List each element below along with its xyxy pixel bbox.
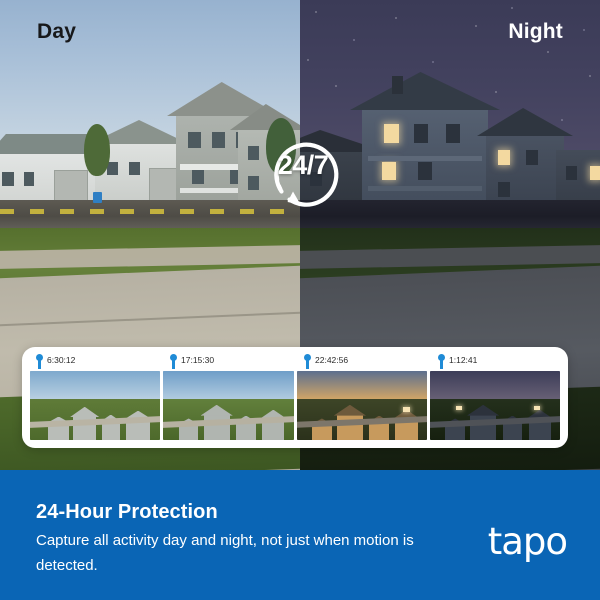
- day-tree-right: [266, 118, 296, 174]
- timeline-tick[interactable]: 1:12:41: [438, 354, 477, 369]
- timeline-thumbnail[interactable]: [30, 371, 160, 440]
- day-tree-left: [84, 124, 110, 176]
- promo-subtitle: Capture all activity day and night, not …: [36, 528, 436, 578]
- map-pin-icon: [36, 354, 43, 369]
- tapo-logo: tapo: [488, 523, 567, 560]
- night-label: Night: [508, 20, 563, 44]
- timeline-timestamp: 6:30:12: [47, 354, 75, 366]
- map-pin-icon: [438, 354, 445, 369]
- timeline-thumbnail[interactable]: [163, 371, 293, 440]
- promo-title: 24-Hour Protection: [36, 501, 218, 524]
- map-pin-icon: [304, 354, 311, 369]
- day-label: Day: [37, 20, 76, 44]
- timeline-thumbnail-row: [30, 371, 560, 440]
- timeline-tick[interactable]: 22:42:56: [304, 354, 348, 369]
- timeline-card[interactable]: 6:30:12 17:15:30 22:42:56 1:12:41: [22, 347, 568, 448]
- timeline-tick[interactable]: 17:15:30: [170, 354, 214, 369]
- timeline-timestamp: 1:12:41: [449, 354, 477, 366]
- promo-band: 24-Hour Protection Capture all activity …: [0, 470, 600, 600]
- map-pin-icon: [170, 354, 177, 369]
- timeline-thumbnail[interactable]: [430, 371, 560, 440]
- timeline-timestamp: 17:15:30: [181, 354, 214, 366]
- timeline-thumbnail[interactable]: [297, 371, 427, 440]
- timeline-tick[interactable]: 6:30:12: [36, 354, 75, 369]
- tapo-24-hour-protection-poster: Day Night 24/7 6:30:12 17:15:30: [0, 0, 600, 600]
- timeline-tick-row: 6:30:12 17:15:30 22:42:56 1:12:41: [30, 354, 560, 371]
- day-recycling-bin: [93, 192, 102, 203]
- timeline-timestamp: 22:42:56: [315, 354, 348, 366]
- night-house-main: [362, 106, 488, 214]
